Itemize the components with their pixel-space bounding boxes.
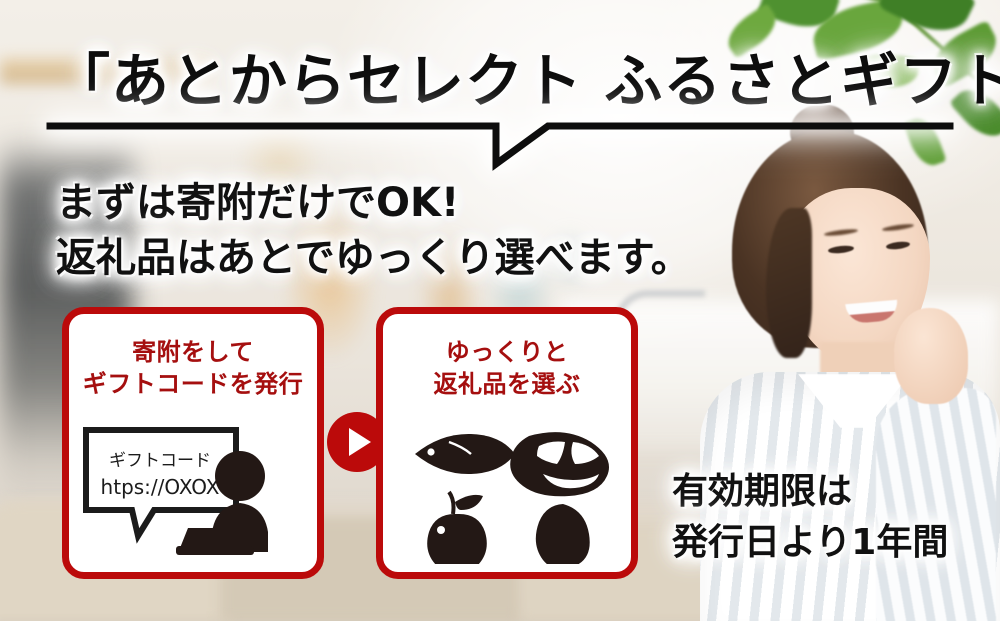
step-card-choose-title: ゆっくりと 返礼品を選ぶ (383, 336, 631, 400)
subtitle-line-2: 返礼品はあとでゆっくり選べます。 (56, 231, 691, 286)
meat-steak-icon (510, 432, 609, 496)
eggplant-icon (536, 504, 590, 564)
page-title: 「あとからセレクト ふるさとギフト」とは (52, 34, 1000, 118)
model-side-hair (766, 208, 812, 358)
expiry-note: 有効期限は 発行日より1年間 (672, 466, 948, 568)
step-card-donate-title-line-1: 寄附をして (69, 336, 317, 368)
step-card-donate-title-line-2: ギフトコードを発行 (69, 368, 317, 400)
play-arrow-triangle (349, 428, 371, 456)
step-card-choose-title-line-2: 返礼品を選ぶ (383, 368, 631, 400)
promo-banner: 「あとからセレクト ふるさとギフト」とは まずは寄附だけでOK! 返礼品はあとで… (0, 0, 1000, 621)
expiry-line-2: 発行日より1年間 (672, 517, 948, 568)
subtitle-block: まずは寄附だけでOK! 返礼品はあとでゆっくり選べます。 (56, 176, 691, 286)
expiry-line-1: 有効期限は (672, 466, 948, 517)
step-card-donate-title: 寄附をして ギフトコードを発行 (69, 336, 317, 400)
step-card-choose-title-line-1: ゆっくりと (383, 336, 631, 368)
gift-code-url: htps://OXOX (101, 475, 220, 499)
gift-code-label: ギフトコード (109, 451, 211, 471)
step-card-donate-artwork: ギフトコード htps://OXOX (69, 424, 317, 564)
title-underline-with-notch (48, 118, 952, 170)
model-hand (894, 308, 968, 404)
subtitle-line-1: まずは寄附だけでOK! (56, 176, 691, 231)
apple-icon (427, 492, 487, 564)
step-card-choose[interactable]: ゆっくりと 返礼品を選ぶ (376, 307, 638, 579)
step-card-donate[interactable]: 寄附をして ギフトコードを発行 ギフトコード htps://OXOX (62, 307, 324, 579)
step-card-choose-artwork (383, 424, 631, 564)
